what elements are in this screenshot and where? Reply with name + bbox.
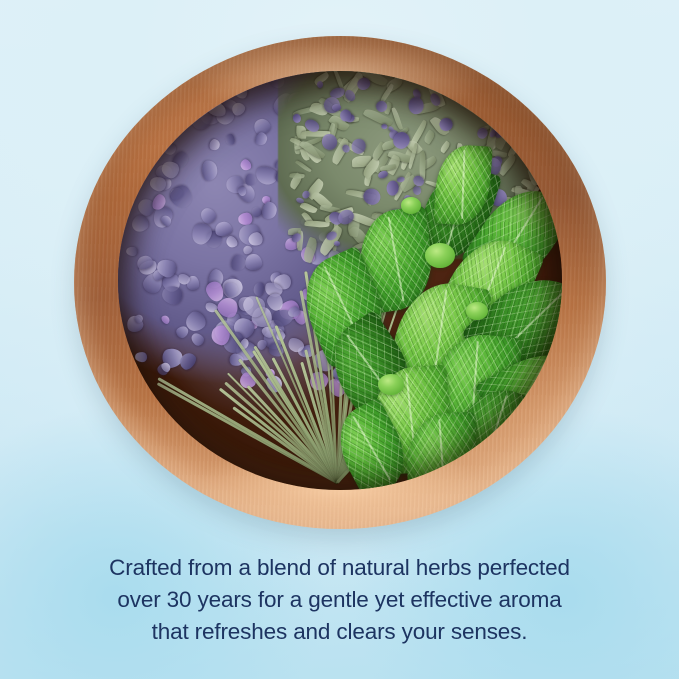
lavender-bud [135, 351, 148, 362]
mint-sprout [425, 243, 455, 268]
caption-text: Crafted from a blend of natural herbs pe… [0, 552, 679, 648]
caption-line-2: over 30 years for a gentle yet effective… [0, 584, 679, 616]
bowl-interior [118, 71, 563, 490]
mint-sprout [401, 197, 421, 213]
caption-line-3: that refreshes and clears your senses. [0, 616, 679, 648]
mint-sprout [378, 374, 404, 395]
caption-line-1: Crafted from a blend of natural herbs pe… [0, 552, 679, 584]
product-lifestyle-image: Crafted from a blend of natural herbs pe… [0, 0, 679, 679]
bowl-exterior [74, 36, 606, 529]
wooden-bowl [74, 36, 606, 529]
mint-leaf [434, 143, 493, 227]
mint-leaf-cluster [296, 171, 563, 489]
mint-sprout [466, 302, 488, 320]
